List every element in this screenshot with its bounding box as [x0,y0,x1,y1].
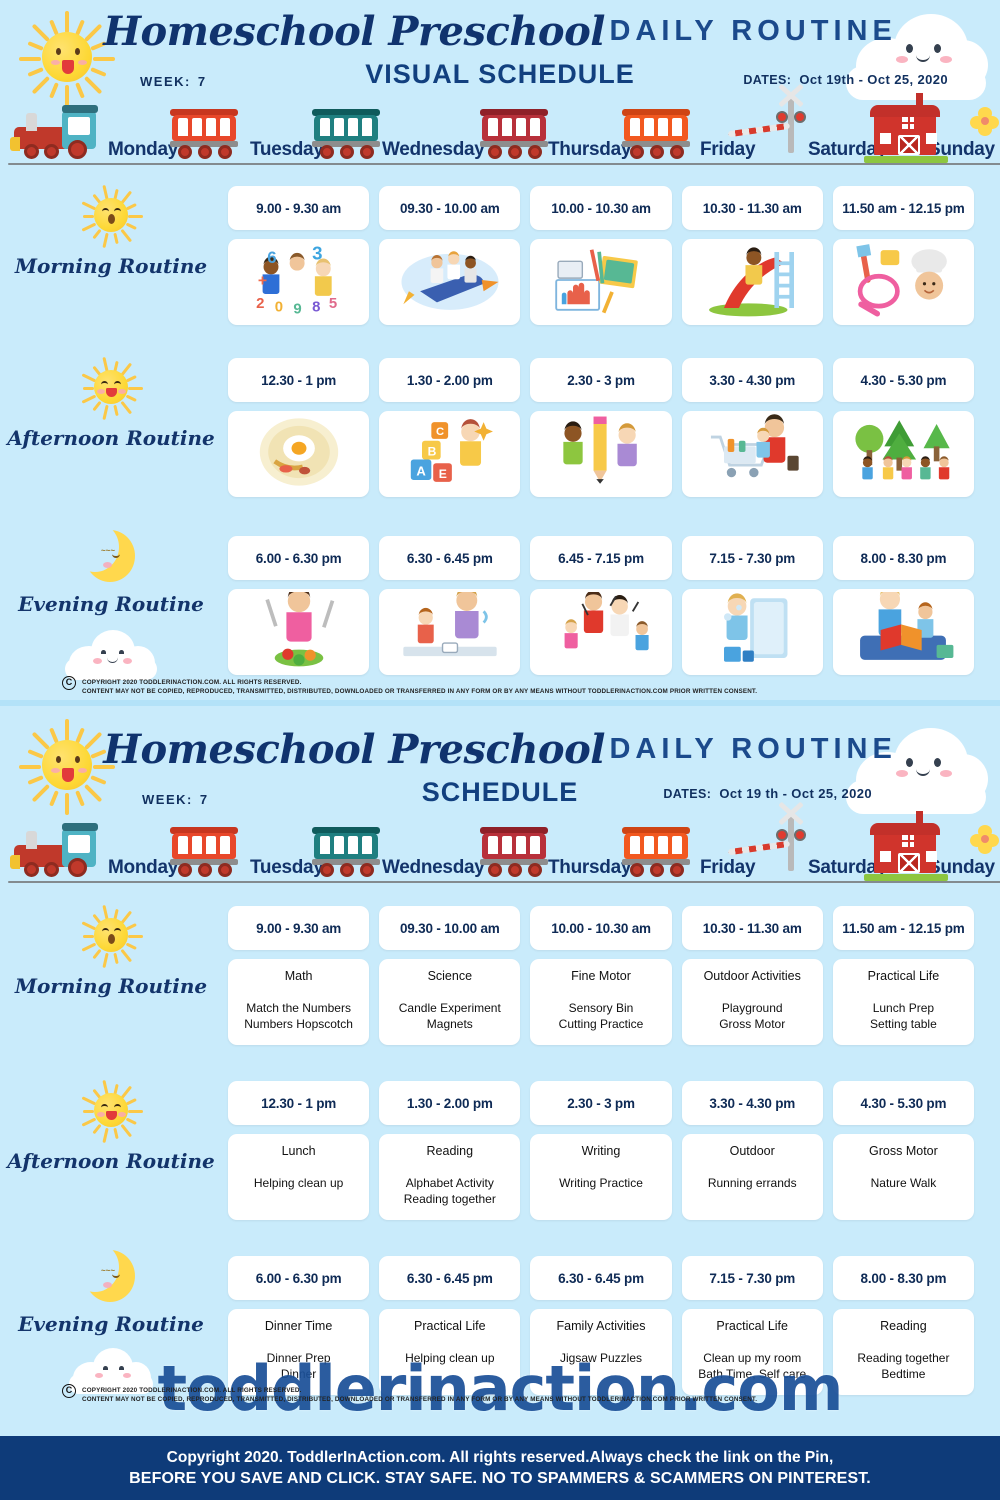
time-slot-card[interactable]: 4.30 - 5.30 pm [833,1081,974,1125]
activity-picture-card[interactable] [682,411,823,497]
footer-line-1: Copyright 2020. ToddlerInAction.com. All… [167,1449,834,1467]
activity-subject: Science [428,969,472,984]
schedule-column: 4.30 - 5.30 pmGross MotorNature Walk [833,1081,974,1220]
sun-eye [114,1104,121,1108]
copyright-line-1: COPYRIGHT 2020 TODDLERINACTION.COM. ALL … [82,1386,970,1395]
row-name: Evening Routine [0,1312,222,1336]
sun-cheek [97,389,105,394]
copyright-line-2: CONTENT MAY NOT BE COPIED, REPRODUCED, T… [82,1395,970,1404]
schedule-column: 10.30 - 11.30 amOutdoor ActivitiesPlaygr… [682,906,823,1045]
activity-text-card[interactable]: WritingWriting Practice [530,1134,671,1220]
svg-text:+: + [258,272,267,289]
copyright-symbol-icon: C [62,676,76,690]
time-slot-card[interactable]: 12.30 - 1 pm [228,358,369,402]
schedule-column: 10.00 - 10.30 am [530,186,671,325]
sun-eye [102,208,109,212]
activity-picture-card[interactable] [530,589,671,675]
activity-picture-card[interactable] [682,589,823,675]
svg-text:5: 5 [328,295,336,312]
schedule-column: 4.30 - 5.30 pm [833,358,974,497]
railway-crossing-icon [760,815,824,879]
time-slot-card[interactable]: 1.30 - 2.00 pm [379,1081,520,1125]
footer-line-2: BEFORE YOU SAVE AND CLICK. STAY SAFE. NO… [129,1470,871,1488]
schedule-column: 10.30 - 11.30 am [682,186,823,325]
sun-ray [120,229,132,243]
activity-subject: Writing [582,1144,621,1159]
activity-detail: Helping clean up [254,1175,343,1191]
sun-ray [82,1118,97,1127]
time-slot-card[interactable]: 09.30 - 10.00 am [379,186,520,230]
schedule-column: 6.45 - 7.15 pm [530,536,671,675]
time-slot-card[interactable]: 6.30 - 6.45 pm [379,536,520,580]
sun-ray [92,1124,101,1134]
science-rocket-kids-icon [394,242,506,323]
sun-ray [102,405,108,420]
sun-eye [114,381,121,385]
schedule-column: 3.30 - 4.30 pm [682,358,823,497]
activity-picture-card[interactable] [379,239,520,325]
moon-cheek [103,1282,112,1288]
playground-slide-icon [696,242,808,323]
time-slot-card[interactable]: 10.30 - 11.30 am [682,906,823,950]
sun-eye [114,208,121,212]
copyright-line-1: COPYRIGHT 2020 TODDLERINACTION.COM. ALL … [82,678,970,687]
sun-ray [128,1110,143,1113]
activity-picture-card[interactable] [833,589,974,675]
schedule-column: 2.30 - 3 pmWritingWriting Practice [530,1081,671,1220]
sun-mouth [108,934,115,944]
activity-detail: Candle Experiment Magnets [399,1000,501,1032]
day-label-friday: Friday [700,139,755,161]
sun-ray [92,401,101,411]
activity-picture-card[interactable] [833,239,974,325]
sun-ray [128,935,143,938]
train-car-icon [620,825,696,877]
time-slot-card[interactable]: 2.30 - 3 pm [530,358,671,402]
sun-ray [120,1124,132,1138]
train-car-icon [620,107,696,159]
helping-clean-up-mother-child-icon [394,592,506,673]
sun-cheek [97,1112,105,1117]
time-slot-card[interactable]: 11.50 am - 12.15 pm [833,906,974,950]
svg-text:9: 9 [293,300,301,317]
moon-sleep-marks: ~~~ [101,1266,115,1275]
time-slot-card[interactable]: 3.30 - 4.30 pm [682,358,823,402]
schedule-column: 9.00 - 9.30 amMathMatch the Numbers Numb… [228,906,369,1045]
barn-icon [866,815,944,881]
sun-icon [76,900,146,970]
time-slot-card[interactable]: 9.00 - 9.30 am [228,906,369,950]
train-car-icon [310,825,386,877]
train-track [8,163,1000,165]
printable-schedule-page: Homeschool Preschool DAILY ROUTINE VISUA… [0,0,1000,1500]
activity-text-card[interactable]: ReadingReading together Bedtime [833,1309,974,1395]
schedule-column: 3.30 - 4.30 pmOutdoorRunning errands [682,1081,823,1220]
moon-sleep-marks: ~~~ [101,546,115,555]
svg-text:6: 6 [267,248,276,267]
dates-label: DATES: [743,73,791,87]
day-label-wednesday: Wednesday [382,139,485,161]
locomotive-icon [10,821,106,877]
title-block: DAILY ROUTINE [609,15,896,47]
time-slot-card[interactable]: 09.30 - 10.00 am [379,906,520,950]
text-schedule-header: Homeschool Preschool DAILY ROUTINE SCHED… [0,708,1000,893]
shopping-cart-mother-icon [696,414,808,495]
week-value: 7 [198,74,205,89]
visual-schedule-rows: Morning Routine 9.00 - 9.30 am6320985+09… [0,178,1000,698]
schedule-column: 09.30 - 10.00 am [379,186,520,325]
row-name: Morning Routine [0,974,222,998]
week-field: WEEK:7 [142,792,207,807]
cloud-icon [63,628,159,680]
activity-text-card[interactable]: Outdoor ActivitiesPlayground Gross Motor [682,959,823,1045]
time-slot-card[interactable]: 8.00 - 8.30 pm [833,1256,974,1300]
row-label-afternoon: Afternoon Routine [0,352,222,450]
section-divider [0,700,1000,706]
time-slot-card[interactable]: 3.30 - 4.30 pm [682,1081,823,1125]
schedule-column: 7.15 - 7.30 pm [682,536,823,675]
activity-picture-card[interactable]: AEBC [379,411,520,497]
sun-ray [120,949,132,963]
sun-ray [92,229,101,239]
activity-subject: Practical Life [716,1319,788,1334]
visual-schedule-header: Homeschool Preschool DAILY ROUTINE VISUA… [0,0,1000,175]
activity-detail: Sensory Bin Cutting Practice [559,1000,644,1032]
row-morning: Morning Routine 9.00 - 9.30 am6320985+09… [0,178,1000,350]
svg-text:8: 8 [312,298,320,315]
row-name: Morning Routine [0,254,222,278]
bath-time-child-icon [696,592,808,673]
sun-ray [113,953,118,964]
activity-detail: Nature Walk [871,1175,937,1191]
sun-ray [102,1128,108,1143]
time-slot-card[interactable]: 10.00 - 10.30 am [530,906,671,950]
activity-subject: Fine Motor [571,969,631,984]
moon-cheek [103,562,112,568]
time-slot-card[interactable]: 2.30 - 3 pm [530,1081,671,1125]
activity-text-card[interactable]: LunchHelping clean up [228,1134,369,1220]
sun-ray [92,949,101,959]
activity-subject: Outdoor [730,1144,775,1159]
activity-detail: Lunch Prep Setting table [870,1000,937,1032]
math-numbers-kids-icon: 6320985+ [243,242,355,323]
time-slot-card[interactable]: 9.00 - 9.30 am [228,186,369,230]
activity-picture-card[interactable] [228,411,369,497]
train-car-icon [478,107,554,159]
activity-subject: Math [285,969,313,984]
activity-subject: Lunch [282,1144,316,1159]
sun-eye [101,1104,108,1108]
time-slot-card[interactable]: 6.45 - 7.15 pm [530,536,671,580]
reading-together-mother-child-icon [847,592,959,673]
activity-picture-card[interactable] [379,589,520,675]
row-afternoon: Afternoon Routine 12.30 - 1 pm1.30 - 2.0… [0,350,1000,528]
days-train-row: MondayTuesdayWednesdayThursdayFridaySatu… [0,821,1000,889]
week-label: WEEK: [142,792,193,807]
activity-picture-card[interactable] [833,411,974,497]
subtitle: SCHEDULE [422,777,579,807]
schedule-column: 6.30 - 6.45 pm [379,536,520,675]
footer-banner: Copyright 2020. ToddlerInAction.com. All… [0,1436,1000,1500]
activity-picture-card[interactable] [530,411,671,497]
activity-picture-card[interactable] [228,589,369,675]
dates-value: Oct 19th - Oct 25, 2020 [799,72,948,87]
flower-icon [970,107,1000,137]
row-label-evening: ~~~ Evening Routine [0,530,222,680]
time-slot-card[interactable]: 7.15 - 7.30 pm [682,1256,823,1300]
dates-value: Oct 19 th - Oct 25, 2020 [719,786,872,801]
sun-ray [113,405,118,416]
sun-ray [83,215,94,218]
schedule-column: 6.00 - 6.30 pm [228,536,369,675]
locomotive-icon [10,103,106,159]
activity-detail: Alphabet Activity Reading together [404,1175,496,1207]
svg-text:E: E [439,467,447,481]
barn-icon [866,97,944,163]
time-slot-card[interactable]: 8.00 - 8.30 pm [833,536,974,580]
time-slot-card[interactable]: 6.00 - 6.30 pm [228,536,369,580]
time-slot-card[interactable]: 7.15 - 7.30 pm [682,536,823,580]
activity-detail: Running errands [708,1175,797,1191]
activity-text-card[interactable]: OutdoorRunning errands [682,1134,823,1220]
row-name: Afternoon Routine [0,426,222,450]
family-jumping-activities-icon [545,592,657,673]
day-label-friday: Friday [700,857,755,879]
title-script: Homeschool Preschool [103,8,605,55]
nature-walk-trees-kids-icon [847,414,959,495]
sun-cheek [118,1112,126,1117]
week-value: 7 [200,792,207,807]
schedule-column: 2.30 - 3 pm [530,358,671,497]
activity-text-card[interactable]: ScienceCandle Experiment Magnets [379,959,520,1045]
svg-text:0: 0 [274,298,282,315]
week-field: WEEK:7 [140,74,205,89]
writing-pencil-kids-icon [545,414,657,495]
day-label-thursday: Thursday [548,139,631,161]
svg-text:3: 3 [312,242,322,263]
dates-field: DATES:Oct 19 th - Oct 25, 2020 [663,786,872,801]
lunch-plate-egg-icon [243,414,355,495]
schedule-column: 10.00 - 10.30 amFine MotorSensory Bin Cu… [530,906,671,1045]
time-slot-card[interactable]: 6.30 - 6.45 pm [530,1256,671,1300]
sun-mouth [108,214,115,224]
dates-label: DATES: [663,787,711,801]
activity-text-card[interactable]: Gross MotorNature Walk [833,1134,974,1220]
time-slot-card[interactable]: 6.00 - 6.30 pm [228,1256,369,1300]
sun-icon [76,352,146,422]
train-car-icon [478,825,554,877]
schedule-column: 9.00 - 9.30 am6320985+ [228,186,369,325]
activity-text-card[interactable]: MathMatch the Numbers Numbers Hopscotch [228,959,369,1045]
time-slot-card[interactable]: 10.30 - 11.30 am [682,186,823,230]
sun-ray [82,943,97,952]
sun-disc [94,370,128,404]
sun-cheek [118,389,126,394]
time-slot-card[interactable]: 11.50 am - 12.15 pm [833,186,974,230]
afternoon-cards: 12.30 - 1 pm1.30 - 2.00 pmAEBC2.30 - 3 p… [228,358,974,497]
schedule-column: 12.30 - 1 pmLunchHelping clean up [228,1081,369,1220]
time-slot-card[interactable]: 12.30 - 1 pm [228,1081,369,1125]
row-label-morning: Morning Routine [0,900,222,998]
schedule-column: 12.30 - 1 pm [228,358,369,497]
activity-detail: Writing Practice [559,1175,643,1191]
sun-ray [102,953,108,968]
time-slot-card[interactable]: 4.30 - 5.30 pm [833,358,974,402]
schedule-column: 11.50 am - 12.15 pmPractical LifeLunch P… [833,906,974,1045]
title-block: DAILY ROUTINE [609,733,896,765]
sun-ray [83,1110,94,1113]
sun-ray [120,401,132,415]
schedule-column: 8.00 - 8.30 pm [833,536,974,675]
time-slot-card[interactable]: 1.30 - 2.00 pm [379,358,520,402]
afternoon-cards: 12.30 - 1 pmLunchHelping clean up1.30 - … [228,1081,974,1220]
svg-text:A: A [416,463,426,478]
row-morning: Morning Routine 9.00 - 9.30 amMathMatch … [0,898,1000,1073]
sun-ray [126,943,137,950]
text-schedule-rows: Morning Routine 9.00 - 9.30 amMathMatch … [0,898,1000,1423]
svg-text:B: B [427,444,436,458]
railway-crossing-icon [760,97,824,161]
activity-text-card[interactable]: ReadingAlphabet Activity Reading togethe… [379,1134,520,1220]
activity-subject: Dinner Time [265,1319,332,1334]
sun-ray [126,1118,137,1125]
sun-icon [76,1075,146,1145]
sun-icon [76,180,146,250]
subtitle: VISUAL SCHEDULE [365,59,635,89]
activity-subject: Practical Life [414,1319,486,1334]
svg-text:C: C [436,426,444,438]
row-name: Evening Routine [0,592,222,616]
sun-ray [83,935,94,938]
activity-detail: Playground Gross Motor [719,1000,785,1032]
row-afternoon: Afternoon Routine 12.30 - 1 pmLunchHelpi… [0,1073,1000,1248]
sun-ray [82,395,97,404]
dates-field: DATES:Oct 19th - Oct 25, 2020 [743,72,948,87]
sun-eye [102,928,109,932]
activity-picture-card[interactable]: 6320985+ [228,239,369,325]
activity-picture-card[interactable] [530,239,671,325]
sun-ray [113,1128,118,1139]
title-script: Homeschool Preschool [103,726,605,773]
sun-ray [102,233,108,248]
activity-subject: Family Activities [557,1319,646,1334]
schedule-column: 8.00 - 8.30 pmReadingReading together Be… [833,1256,974,1395]
train-car-icon [168,825,244,877]
row-evening: ~~~ Evening Routine 6.00 - 6.30 pm6.30 -… [0,528,1000,698]
activity-subject: Reading [427,1144,474,1159]
activity-text-card[interactable]: Practical LifeLunch Prep Setting table [833,959,974,1045]
sun-ray [126,223,137,230]
morning-cards: 9.00 - 9.30 amMathMatch the Numbers Numb… [228,906,974,1045]
activity-subject: Practical Life [868,969,940,984]
sun-ray [128,215,143,218]
row-label-morning: Morning Routine [0,180,222,278]
train-car-icon [168,107,244,159]
sun-ray [113,233,118,244]
sun-ray [83,387,94,390]
activity-subject: Reading [880,1319,927,1334]
activity-text-card[interactable]: Fine MotorSensory Bin Cutting Practice [530,959,671,1045]
day-label-wednesday: Wednesday [382,857,485,879]
sun-disc [94,1093,128,1127]
time-slot-card[interactable]: 10.00 - 10.30 am [530,186,671,230]
sun-ray [128,387,143,390]
day-label-thursday: Thursday [548,857,631,879]
moon-icon: ~~~ [85,1250,137,1306]
activity-subject: Outdoor Activities [704,969,801,984]
week-label: WEEK: [140,74,191,89]
schedule-column: 09.30 - 10.00 amScienceCandle Experiment… [379,906,520,1045]
sun-eye [114,928,121,932]
train-track [8,881,1000,883]
fine-motor-handprint-art-icon [545,242,657,323]
sun-ray [126,395,137,402]
moon-icon: ~~~ [85,530,137,586]
train-car-icon [310,107,386,159]
copyright-notice-1: COPYRIGHT 2020 TODDLERINACTION.COM. ALL … [82,678,970,696]
row-name: Afternoon Routine [0,1149,222,1173]
evening-cards: 6.00 - 6.30 pm6.30 - 6.45 pm6.45 - 7.15 … [228,536,974,675]
schedule-column: 1.30 - 2.00 pmReadingAlphabet Activity R… [379,1081,520,1220]
alphabet-blocks-girl-icon: AEBC [394,414,506,495]
schedule-column: 11.50 am - 12.15 pm [833,186,974,325]
copyright-notice-2: COPYRIGHT 2020 TODDLERINACTION.COM. ALL … [82,1386,970,1404]
activity-detail: Match the Numbers Numbers Hopscotch [244,1000,353,1032]
svg-text:2: 2 [256,295,264,312]
flower-icon [970,825,1000,855]
row-label-afternoon: Afternoon Routine [0,1075,222,1173]
copyright-symbol-icon: C [62,1384,76,1398]
days-train-row: MondayTuesdayWednesdayThursdayFridaySatu… [0,103,1000,171]
dinner-cooking-girl-icon [243,592,355,673]
cooking-utensils-chef-icon [847,242,959,323]
activity-subject: Gross Motor [869,1144,938,1159]
activity-detail: Reading together Bedtime [857,1350,949,1382]
activity-picture-card[interactable] [682,239,823,325]
sun-eye [101,381,108,385]
time-slot-card[interactable]: 6.30 - 6.45 pm [379,1256,520,1300]
sun-ray [82,223,97,232]
schedule-column: 1.30 - 2.00 pmAEBC [379,358,520,497]
copyright-line-2: CONTENT MAY NOT BE COPIED, REPRODUCED, T… [82,687,970,696]
morning-cards: 9.00 - 9.30 am6320985+09.30 - 10.00 am10… [228,186,974,325]
